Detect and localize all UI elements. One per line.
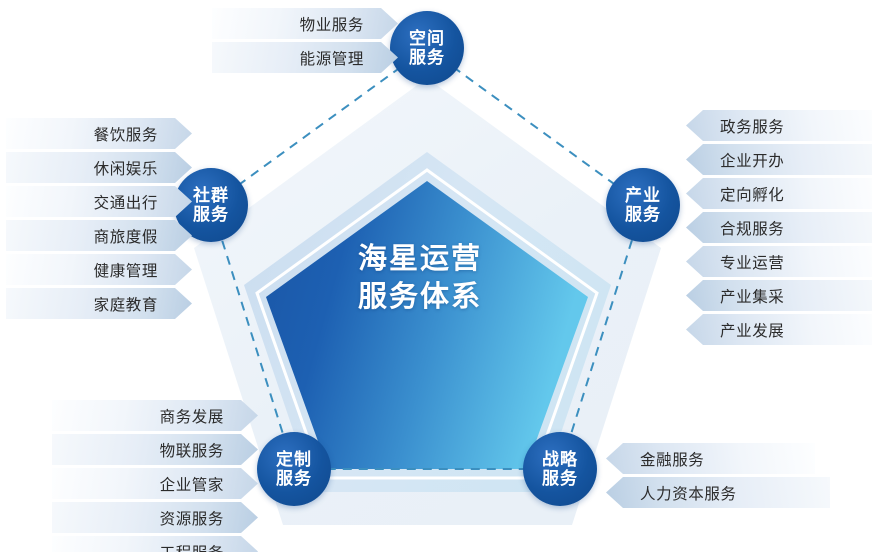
node-custom-line1: 定制 xyxy=(276,450,312,469)
banner-community-0[interactable]: 餐饮服务 xyxy=(6,118,192,149)
banner-custom-4[interactable]: 工程服务 xyxy=(52,536,258,552)
node-space[interactable]: 空间 服务 xyxy=(390,11,464,85)
banner-industry-6[interactable]: 产业发展 xyxy=(686,314,872,345)
banner-industry-3[interactable]: 合规服务 xyxy=(686,212,872,243)
banner-industry-0[interactable]: 政务服务 xyxy=(686,110,872,141)
banner-custom-3[interactable]: 资源服务 xyxy=(52,502,258,533)
node-custom-line2: 服务 xyxy=(276,469,312,488)
node-community-line2: 服务 xyxy=(193,205,229,224)
node-strategy-line2: 服务 xyxy=(542,469,578,488)
banner-group-community: 餐饮服务 休闲娱乐 交通出行 商旅度假 健康管理 家庭教育 xyxy=(6,118,158,322)
banner-strategy-1[interactable]: 人力资本服务 xyxy=(606,477,830,508)
banner-community-3[interactable]: 商旅度假 xyxy=(6,220,192,251)
banner-community-5[interactable]: 家庭教育 xyxy=(6,288,192,319)
node-industry-line2: 服务 xyxy=(625,205,661,224)
banner-custom-0[interactable]: 商务发展 xyxy=(52,400,258,431)
banner-space-0[interactable]: 物业服务 xyxy=(212,8,398,39)
banner-industry-4[interactable]: 专业运营 xyxy=(686,246,872,277)
banner-industry-1[interactable]: 企业开办 xyxy=(686,144,872,175)
node-strategy-line1: 战略 xyxy=(542,450,578,469)
banner-group-space: 物业服务 能源管理 xyxy=(212,8,364,76)
banner-strategy-0[interactable]: 金融服务 xyxy=(606,443,815,474)
banner-group-strategy: 金融服务 人力资本服务 xyxy=(606,443,781,511)
node-custom[interactable]: 定制 服务 xyxy=(257,432,331,506)
node-space-line2: 服务 xyxy=(409,48,445,67)
banner-group-custom: 商务发展 物联服务 企业管家 资源服务 工程服务 xyxy=(52,400,224,552)
banner-community-2[interactable]: 交通出行 xyxy=(6,186,192,217)
banner-custom-1[interactable]: 物联服务 xyxy=(52,434,258,465)
banner-industry-2[interactable]: 定向孵化 xyxy=(686,178,872,209)
node-industry[interactable]: 产业 服务 xyxy=(606,168,680,242)
node-community-line1: 社群 xyxy=(193,186,229,205)
banner-community-1[interactable]: 休闲娱乐 xyxy=(6,152,192,183)
banner-group-industry: 政务服务 企业开办 定向孵化 合规服务 专业运营 产业集采 产业发展 xyxy=(686,110,846,348)
node-industry-line1: 产业 xyxy=(625,186,661,205)
node-space-line1: 空间 xyxy=(409,29,445,48)
diagram-canvas: 海星运营 服务体系 空间 服务 产业 服务 战略 服务 定制 服务 社群 服务 … xyxy=(0,0,872,552)
banner-community-4[interactable]: 健康管理 xyxy=(6,254,192,285)
banner-custom-2[interactable]: 企业管家 xyxy=(52,468,258,499)
node-strategy[interactable]: 战略 服务 xyxy=(523,432,597,506)
banner-industry-5[interactable]: 产业集采 xyxy=(686,280,872,311)
banner-space-1[interactable]: 能源管理 xyxy=(212,42,398,73)
